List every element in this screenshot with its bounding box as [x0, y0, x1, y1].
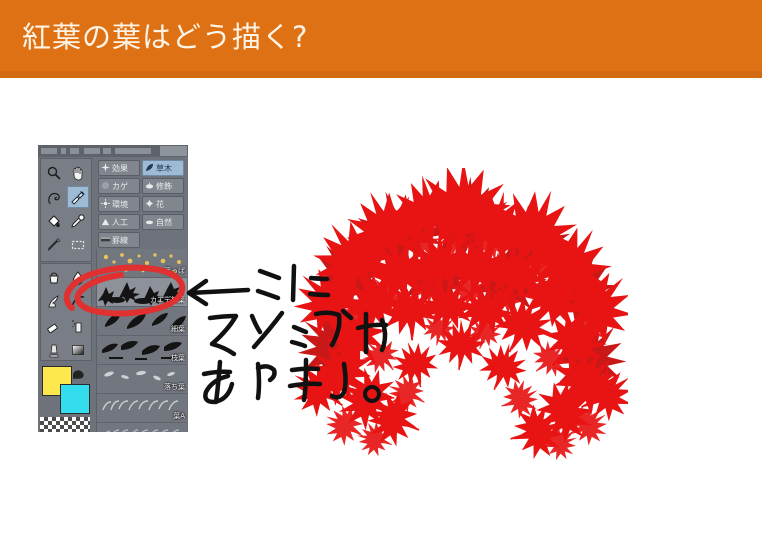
left-arrow-mark — [189, 281, 248, 304]
category-label-5: 花 — [156, 199, 164, 210]
spray-tool-button[interactable] — [67, 315, 89, 337]
lasso-icon — [46, 189, 62, 205]
stamp-label-1: カエデ紅葉 — [150, 295, 185, 305]
hand-icon — [70, 165, 86, 181]
menu-item-1[interactable] — [41, 148, 57, 154]
stamp-list-item-4[interactable]: 落ち葉 — [97, 365, 187, 394]
ruled-line-icon — [101, 235, 110, 246]
spray-icon — [70, 318, 86, 334]
stamp-list-item-3[interactable]: 枝葉 — [97, 336, 187, 365]
bucket-tool-button[interactable] — [43, 267, 65, 289]
environment-icon — [101, 199, 110, 210]
blur-drop-icon — [70, 270, 86, 286]
slide-title-banner: 紅葉の葉はどう描く? — [0, 0, 762, 78]
category-button-5[interactable]: 花 — [142, 196, 184, 212]
eyedropper-icon — [70, 213, 86, 229]
magnifier-icon — [46, 165, 62, 181]
panel-tab-button[interactable] — [160, 146, 187, 156]
paint-app-panel[interactable]: A 効果 草木 カゲ — [38, 145, 188, 432]
background-color-swatch[interactable] — [60, 384, 90, 414]
category-button-2[interactable]: カゲ — [98, 178, 140, 194]
stamp-label-0: 葉っぱ — [164, 266, 185, 276]
category-label-3: 修飾 — [156, 181, 172, 192]
marquee-rect-icon — [70, 237, 86, 253]
maple-leaf-cluster — [288, 168, 628, 466]
eraser-tool-button[interactable] — [43, 315, 65, 337]
stamp-list-item-5[interactable]: 葉A — [97, 394, 187, 423]
stamp-brush-icon — [70, 189, 86, 205]
stamp-list-item-1[interactable]: カエデ紅葉 — [97, 278, 187, 307]
zoom-tool-button[interactable] — [43, 162, 65, 184]
sparkle-icon — [101, 163, 110, 174]
category-button-0[interactable]: 効果 — [98, 160, 140, 176]
category-button-7[interactable]: 自然 — [142, 214, 184, 230]
stamp-label-4: 落ち葉 — [164, 382, 185, 392]
category-label-4: 環境 — [112, 199, 128, 210]
stamp-list-item-6[interactable]: 草B — [97, 423, 187, 432]
page-title: 紅葉の葉はどう描く? — [22, 18, 308, 56]
maple-leaf-illustration — [288, 168, 628, 473]
fill-tool-button[interactable] — [43, 210, 65, 232]
curve-icon — [70, 294, 86, 310]
stamp-icon — [46, 342, 62, 358]
color-swatch-area[interactable] — [40, 362, 92, 432]
lasso-tool-button[interactable] — [43, 186, 65, 208]
ornament-icon — [145, 181, 154, 192]
app-menubar[interactable] — [38, 145, 188, 157]
category-label-6: 人工 — [112, 217, 128, 228]
stamp-preview-list[interactable]: 葉っぱ カエデ紅葉 — [96, 249, 187, 432]
stamp-list-item-2[interactable]: 細葉 — [97, 307, 187, 336]
shadow-circle-icon — [101, 181, 110, 192]
stamp-tool-button[interactable] — [43, 339, 65, 361]
pen-icon — [46, 237, 62, 253]
gradient-icon — [70, 342, 86, 358]
category-button-3[interactable]: 修飾 — [142, 178, 184, 194]
smudge-icon — [46, 294, 62, 310]
category-button-1[interactable]: 草木 — [142, 160, 184, 176]
building-icon — [101, 217, 110, 228]
category-label-8: 罫線 — [112, 235, 128, 246]
category-button-8[interactable]: 罫線 — [98, 232, 140, 248]
gradient-tool-button[interactable] — [67, 339, 89, 361]
stamp-thumbnail-6 — [97, 423, 187, 432]
flower-icon — [145, 199, 154, 210]
category-label-7: 自然 — [156, 217, 172, 228]
stamp-brush-tool-button[interactable] — [67, 186, 89, 208]
menu-item-2[interactable] — [61, 148, 66, 154]
smudge-tool-button[interactable] — [43, 291, 65, 313]
cloud-icon — [145, 217, 154, 228]
category-label-1: 草木 — [156, 163, 172, 174]
banner-bottom-shade — [0, 71, 762, 78]
menu-item-4[interactable] — [84, 148, 100, 154]
toolbox-group-primary[interactable] — [40, 158, 92, 262]
curve-tool-button[interactable] — [67, 291, 89, 313]
stamp-label-5: 葉A — [173, 411, 185, 421]
transparency-checker-strip — [40, 417, 90, 432]
menu-item-5[interactable] — [103, 148, 111, 154]
paint-bucket-icon — [46, 213, 62, 229]
category-label-2: カゲ — [112, 181, 128, 192]
pen-tool-button[interactable] — [43, 234, 65, 256]
eraser-icon — [46, 318, 62, 334]
leaf-branch-icon — [145, 163, 154, 174]
brush-category-grid[interactable]: 効果 草木 カゲ 修飾 環境 — [96, 158, 186, 250]
stamp-label-2: 細葉 — [171, 324, 185, 334]
stamp-list-item-0[interactable]: 葉っぱ — [97, 249, 187, 278]
category-button-6[interactable]: 人工 — [98, 214, 140, 230]
category-label-0: 効果 — [112, 163, 128, 174]
blur-tool-button[interactable] — [67, 267, 89, 289]
bucket-icon — [46, 270, 62, 286]
menu-item-3[interactable] — [70, 148, 79, 154]
menu-item-6[interactable] — [115, 148, 151, 154]
category-button-4[interactable]: 環境 — [98, 196, 140, 212]
eyedropper-tool-button[interactable] — [67, 210, 89, 232]
marquee-tool-button[interactable] — [67, 234, 89, 256]
toolbox-group-secondary[interactable]: A — [40, 263, 92, 361]
stamp-label-3: 枝葉 — [171, 353, 185, 363]
hand-tool-button[interactable] — [67, 162, 89, 184]
